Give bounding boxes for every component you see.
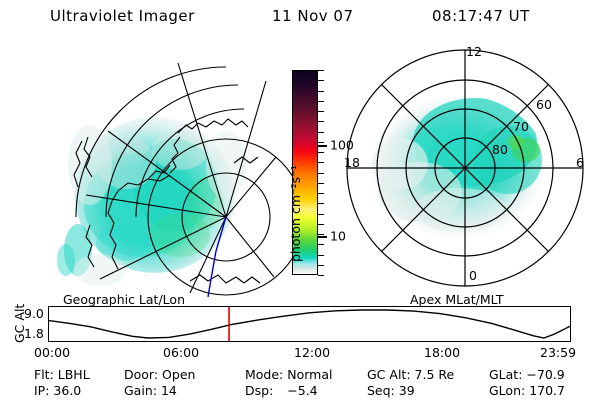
strip-xtick-4: 23:59 <box>540 345 576 360</box>
left-panel-caption: Geographic Lat/Lon <box>63 292 185 307</box>
colorbar-tick <box>318 183 324 184</box>
status-gcalt-label: GC Alt: <box>367 367 411 382</box>
colorbar-tick <box>318 203 324 204</box>
status-glat-label: GLat: <box>489 367 522 382</box>
observation-date: 11 Nov 07 <box>272 7 354 25</box>
colorbar-tick <box>318 275 324 276</box>
mlt-label-12: 12 <box>466 44 482 59</box>
strip-ytick-high: 9.0 <box>24 306 44 321</box>
status-gain-label: Gain: <box>124 383 157 398</box>
mlat-label-80: 80 <box>492 142 508 157</box>
status-glon-label: GLon: <box>489 383 525 398</box>
status-seq: Seq: 39 <box>367 383 415 398</box>
colorbar-tick <box>318 234 324 235</box>
status-glat-value: −70.9 <box>526 367 564 382</box>
colorbar-tick <box>318 193 324 194</box>
colorbar-tick <box>318 255 324 256</box>
status-glat: GLat: −70.9 <box>489 367 565 382</box>
colorbar-major-tick <box>318 145 327 147</box>
mlt-label-0: 0 <box>469 268 477 283</box>
status-dsp-label: Dsp: <box>245 383 273 398</box>
status-flt-value: LBHL <box>58 367 90 382</box>
status-seq-value: 39 <box>399 383 415 398</box>
colorbar-tick <box>318 173 324 174</box>
colorbar-tick <box>318 70 324 71</box>
status-mode-label: Mode: <box>245 367 283 382</box>
observation-time: 08:17:47 UT <box>432 7 530 25</box>
status-gain: Gain: 14 <box>124 383 177 398</box>
colorbar-tick <box>318 214 324 215</box>
status-dsp-value: −5.4 <box>287 383 317 398</box>
colorbar-axis-label: photon cm⁻²s⁻¹ <box>288 165 303 262</box>
status-door-value: Open <box>162 367 195 382</box>
status-flt: Flt: LBHL <box>34 367 90 382</box>
status-glon: GLon: 170.7 <box>489 383 565 398</box>
colorbar-tick <box>318 91 324 92</box>
mlt-spokes <box>347 50 583 286</box>
status-gcalt-value: 7.5 Re <box>415 367 455 382</box>
colorbar-tick <box>318 111 324 112</box>
status-glon-value: 170.7 <box>529 383 565 398</box>
mlt-label-6: 6 <box>576 155 584 170</box>
colorbar-tick <box>318 265 324 266</box>
status-seq-label: Seq: <box>367 383 395 398</box>
status-ip-label: IP: <box>34 383 49 398</box>
status-gcalt: GC Alt: 7.5 Re <box>367 367 454 382</box>
colorbar-major-tick <box>318 236 327 238</box>
strip-xtick-2: 12:00 <box>294 345 330 360</box>
strip-xtick-0: 00:00 <box>34 345 70 360</box>
colorbar-tick <box>318 224 324 225</box>
mlt-label-18: 18 <box>344 155 360 170</box>
status-gain-value: 14 <box>161 383 177 398</box>
colorbar-tick <box>318 121 324 122</box>
status-mode: Mode: Normal <box>245 367 333 382</box>
geographic-aurora-plot[interactable] <box>30 45 280 295</box>
status-door-label: Door: <box>124 367 158 382</box>
status-ip-value: 36.0 <box>53 383 81 398</box>
status-door: Door: Open <box>124 367 195 382</box>
right-panel-caption: Apex MLat/MLT <box>410 292 504 307</box>
orbit-altitude-strip[interactable] <box>48 306 571 342</box>
altitude-curve <box>49 310 570 338</box>
colorbar-tick <box>318 152 324 153</box>
colorbar-tick <box>318 162 324 163</box>
colorbar-tick <box>318 244 324 245</box>
aurora-emission-region <box>370 95 546 239</box>
colorbar-tick <box>318 101 324 102</box>
mlat-label-70: 70 <box>513 119 529 134</box>
strip-ytick-low: 1.8 <box>24 326 44 341</box>
status-flt-label: Flt: <box>34 367 54 382</box>
status-mode-value: Normal <box>287 367 332 382</box>
strip-xtick-3: 18:00 <box>424 345 460 360</box>
strip-xtick-1: 06:00 <box>163 345 199 360</box>
status-ip: IP: 36.0 <box>34 383 81 398</box>
mlat-label-60: 60 <box>536 97 552 112</box>
colorbar-tick <box>318 80 324 81</box>
instrument-title: Ultraviolet Imager <box>50 7 195 25</box>
status-dsp: Dsp: −5.4 <box>245 383 318 398</box>
apex-aurora-plot[interactable] <box>340 42 590 294</box>
colorbar-tick <box>318 132 324 133</box>
colorbar-tick <box>318 142 324 143</box>
